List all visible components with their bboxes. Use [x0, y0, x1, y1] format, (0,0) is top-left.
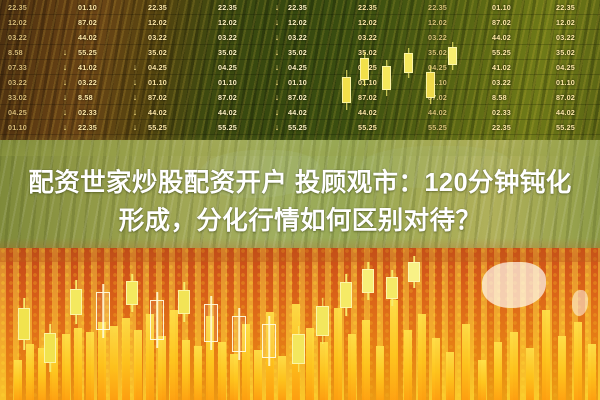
candle-body: [232, 316, 246, 352]
candle-body: [382, 66, 391, 90]
candle-body: [150, 300, 164, 340]
candlestick-lower: [386, 270, 398, 306]
candle-body: [340, 282, 352, 308]
candlestick-lower: [44, 324, 56, 372]
candlestick-upper: [342, 70, 351, 110]
candlestick-lower: [362, 262, 374, 300]
candlestick-lower: [408, 256, 420, 288]
headline-line-2: 形成，分化行情如何区别对待？: [119, 203, 482, 239]
candlestick-upper: [382, 60, 391, 96]
headline-block: 配资世家炒股配资开户 投顾观市：120分钟钝化 形成，分化行情如何区别对待？: [0, 152, 600, 252]
candlestick-upper: [360, 52, 369, 86]
candle-body: [426, 72, 435, 98]
banner-image: 22.3512.0203.228.5807.3303.2233.0204.250…: [0, 0, 600, 400]
candle-body: [178, 290, 190, 314]
candle-body: [18, 308, 30, 340]
candle-body: [126, 281, 138, 305]
candle-body: [204, 304, 218, 342]
candle-body: [342, 77, 351, 103]
candle-body: [386, 277, 398, 299]
headline-line-1: 配资世家炒股配资开户 投顾观市：120分钟钝化: [28, 165, 571, 201]
candle-body: [70, 289, 82, 315]
candle-body: [362, 269, 374, 293]
candle-body: [292, 334, 305, 364]
candle-body: [408, 262, 420, 282]
upper-candlestick-group: [330, 30, 490, 140]
candlestick-upper: [426, 66, 435, 104]
candlestick-lower: [126, 274, 138, 312]
candlestick-lower: [178, 282, 190, 322]
candle-body: [96, 292, 110, 330]
candle-body: [360, 58, 369, 80]
candle-body: [316, 306, 329, 336]
candle-body: [44, 333, 56, 363]
candlestick-lower: [150, 292, 164, 348]
candlestick-lower: [262, 316, 276, 366]
candlestick-lower: [96, 284, 110, 338]
candle-body: [448, 47, 457, 65]
candlestick-lower: [70, 280, 82, 324]
candlestick-lower: [340, 274, 352, 316]
candlestick-lower: [18, 298, 30, 350]
candlestick-lower: [292, 326, 305, 372]
candlestick-lower: [204, 296, 218, 350]
candlestick-upper: [448, 42, 457, 70]
ticker-scanlines: [0, 0, 600, 150]
candlestick-lower: [232, 308, 246, 360]
candle-body: [404, 53, 413, 73]
candlestick-upper: [404, 48, 413, 78]
candle-body: [262, 324, 276, 358]
candlestick-lower: [316, 298, 329, 344]
lower-candlestick-group: [0, 252, 600, 400]
